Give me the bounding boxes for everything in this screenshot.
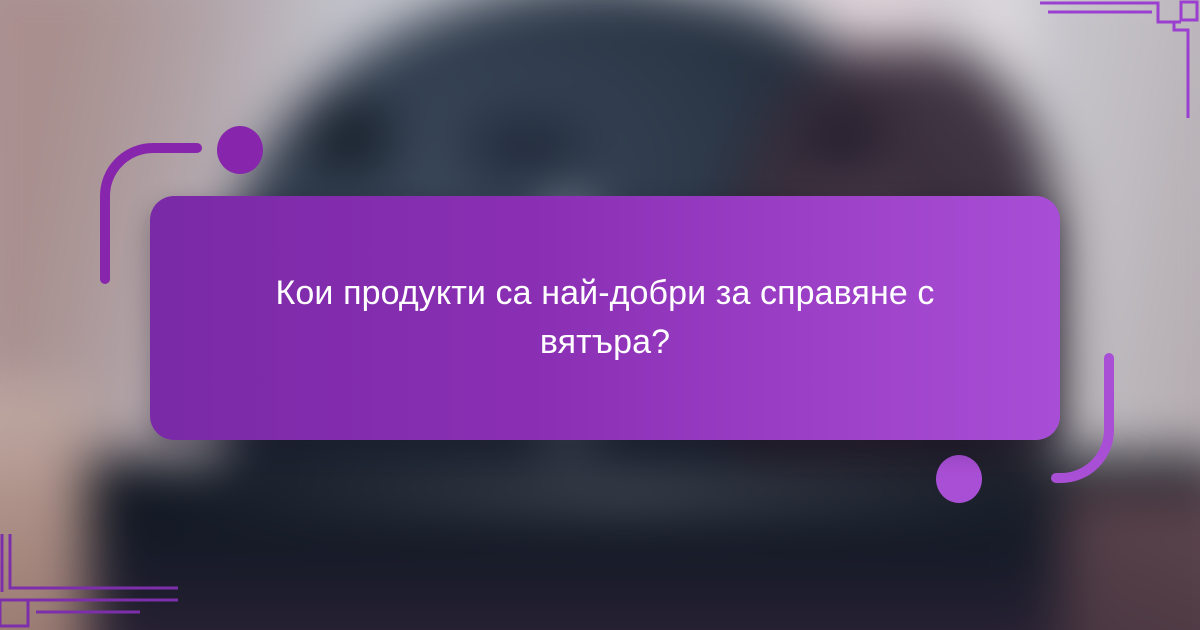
background-table-edge-light xyxy=(114,478,1138,506)
poster-canvas: Кои продукти са най-добри за справяне с … xyxy=(0,0,1200,630)
accent-dot-bottom-right-icon xyxy=(936,455,982,503)
question-title: Кои продукти са най-добри за справяне с … xyxy=(206,269,1004,368)
background-detail-blob-2 xyxy=(459,116,587,180)
background-wood-left xyxy=(0,386,88,630)
accent-dot-top-left-icon xyxy=(217,126,263,174)
background-detail-blob-1 xyxy=(306,102,396,173)
background-detail-blob-3 xyxy=(805,116,882,166)
background-wood-right xyxy=(1061,485,1200,630)
question-card: Кои продукти са най-добри за справяне с … xyxy=(150,196,1060,440)
